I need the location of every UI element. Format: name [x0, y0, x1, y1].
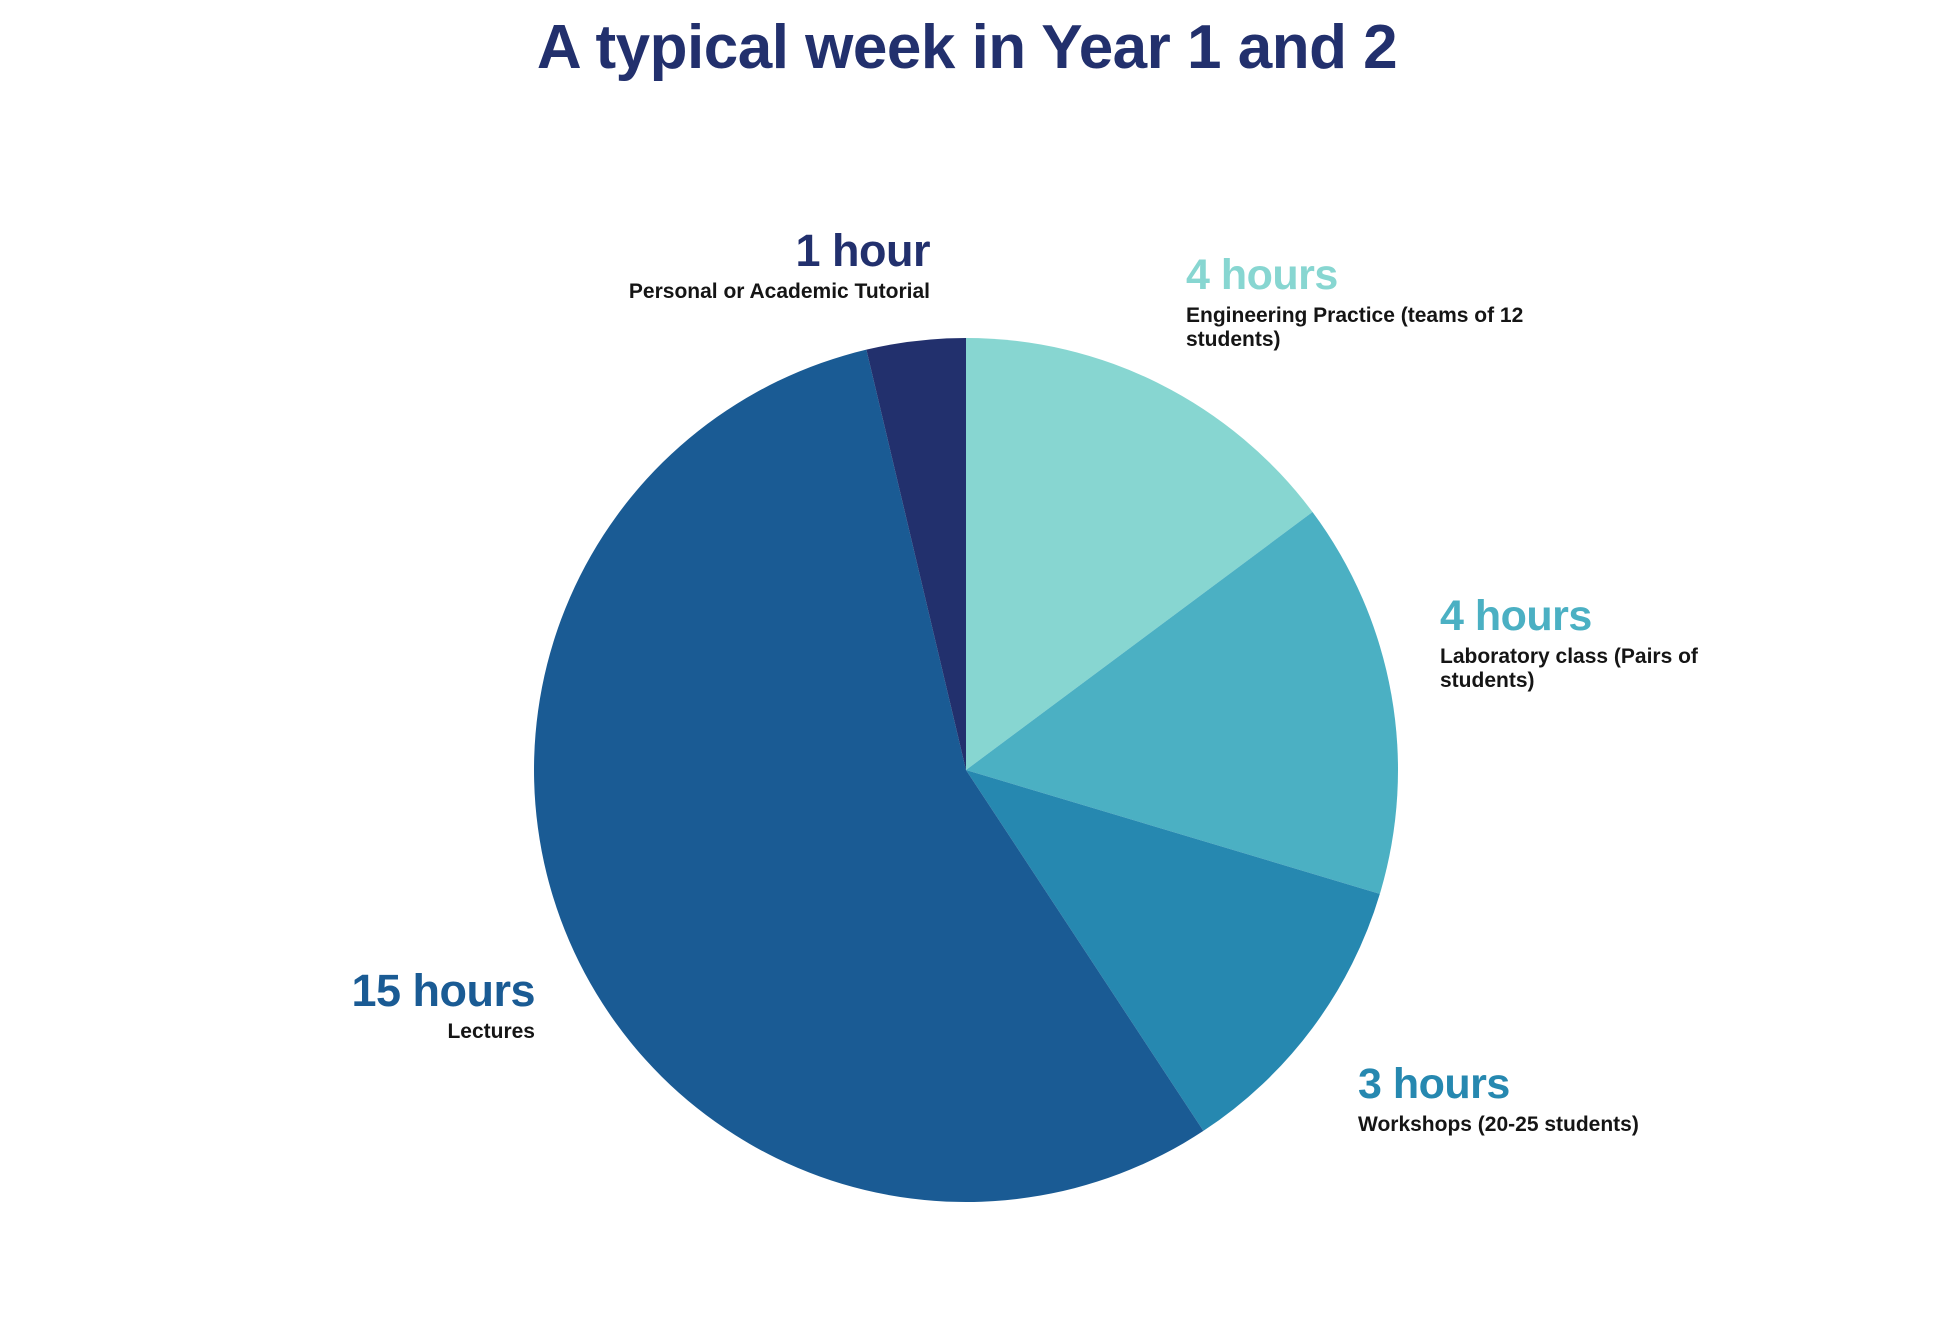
callout-lectures: 15 hours Lectures [300, 968, 535, 1044]
pie-slice-group [534, 338, 1398, 1202]
callout-personal-or-academic-tutorial: 1 hour Personal or Academic Tutorial [620, 228, 930, 304]
callout-description-laboratory: Laboratory class (Pairs of students) [1440, 645, 1715, 692]
callout-value-lectures: 15 hours [300, 968, 535, 1013]
callout-workshops: 3 hours Workshops (20-25 students) [1358, 1063, 1658, 1137]
callout-engineering-practice: 4 hours Engineering Practice (teams of 1… [1186, 254, 1531, 351]
callout-description-workshops: Workshops (20-25 students) [1358, 1113, 1658, 1137]
callout-description-tutorial: Personal or Academic Tutorial [620, 280, 930, 304]
callout-description-lectures: Lectures [300, 1020, 535, 1044]
callout-description-engineering: Engineering Practice (teams of 12 studen… [1186, 304, 1531, 351]
callout-value-tutorial: 1 hour [620, 228, 930, 273]
callout-value-workshops: 3 hours [1358, 1063, 1658, 1106]
callout-value-engineering: 4 hours [1186, 254, 1531, 297]
callout-value-laboratory: 4 hours [1440, 595, 1715, 638]
callout-laboratory-class: 4 hours Laboratory class (Pairs of stude… [1440, 595, 1715, 692]
